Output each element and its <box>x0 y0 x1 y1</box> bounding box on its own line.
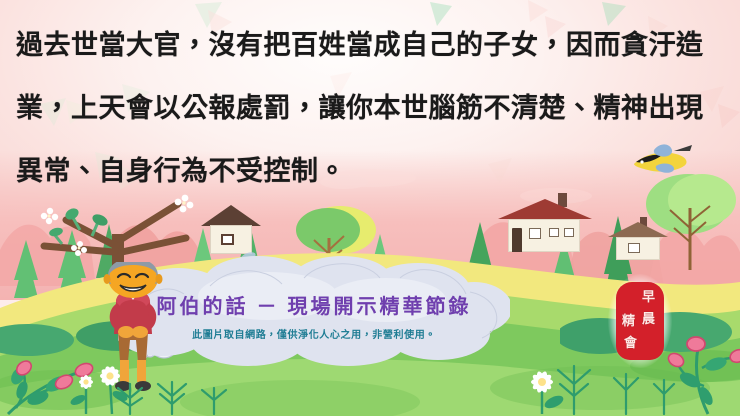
poster-root: 阿伯的話 － 現場開示精華節錄 此圖片取自網路，僅供淨化人心之用，非營利使用。 <box>0 0 740 416</box>
seal-char-bottom: 會 <box>624 336 637 350</box>
window-main-3 <box>564 228 574 237</box>
headline-line-1: 過去世當大官，沒有把百姓當成自己的子女，因而貪汙造 <box>16 14 728 77</box>
seal-char-mid-left: 精 <box>622 314 635 328</box>
window-main-2 <box>549 228 559 237</box>
red-seal-stamp: 早 晨 精 會 <box>616 282 664 360</box>
headline-text: 過去世當大官，沒有把百姓當成自己的子女，因而貪汙造 業，上天會以公報處罰，讓你本… <box>16 14 728 203</box>
seal-char-mid-right: 晨 <box>642 312 655 326</box>
headline-line-3: 異常、自身行為不受控制。 <box>16 140 728 203</box>
seal-glyphs: 早 晨 精 會 <box>616 282 664 360</box>
roof-small-left <box>201 205 261 226</box>
cloud-banner: 阿伯的話 － 現場開示精華節錄 此圖片取自網路，僅供淨化人心之用，非營利使用。 <box>118 256 510 366</box>
seal-char-top-right: 早 <box>642 290 655 304</box>
banner-disclaimer: 此圖片取自網路，僅供淨化人心之用，非營利使用。 <box>118 326 510 341</box>
headline-line-2: 業，上天會以公報處罰，讓你本世腦筋不清楚、精神出現 <box>16 77 728 140</box>
grass-tufts-left <box>110 372 240 416</box>
grass-daisy-right <box>530 352 690 416</box>
banner-title: 阿伯的話 － 現場開示精華節錄 <box>118 290 510 319</box>
